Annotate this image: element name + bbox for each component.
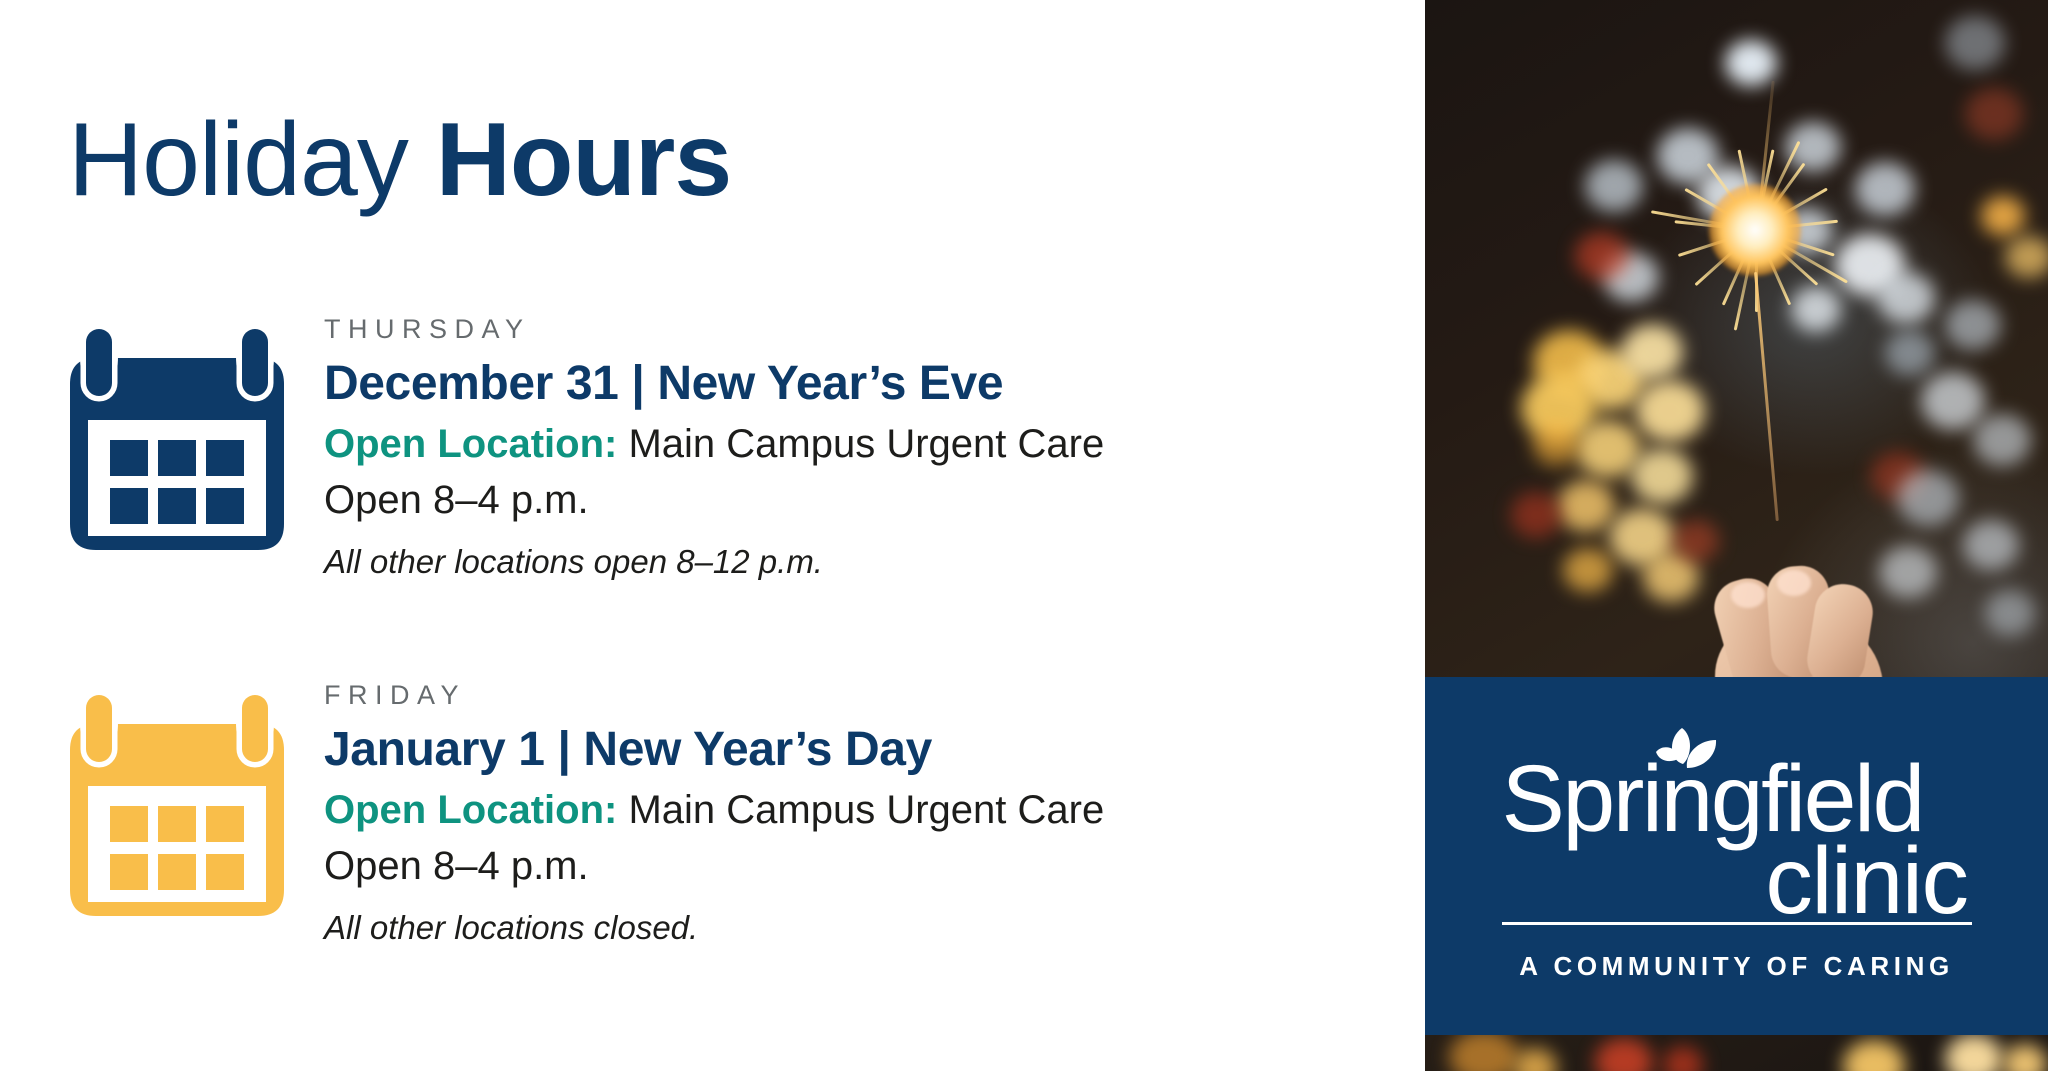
fingernail [1731, 582, 1765, 608]
page-title-light: Holiday [68, 102, 408, 218]
calendar-icon-gold-wrap [56, 672, 324, 934]
event-hours: Open 8–4 p.m. [324, 840, 1104, 893]
event-text-group: THURSDAY December 31 | New Year’s Eve Op… [324, 306, 1104, 581]
sparkler-stick [1754, 272, 1779, 521]
logo-mark: Springfield clinic [1502, 730, 1972, 920]
page-title-bold: Hours [436, 102, 731, 218]
open-location-key: Open Location: [324, 788, 617, 832]
event-open-location: Open Location: Main Campus Urgent Care [324, 418, 1104, 471]
event-block-new-years-day: FRIDAY January 1 | New Year’s Day Open L… [56, 672, 1104, 947]
photo-panel: Springfield clinic A COMMUNITY OF CARING [1425, 0, 2048, 1071]
event-day-label: FRIDAY [324, 680, 1104, 711]
open-location-key: Open Location: [324, 422, 617, 466]
event-title: January 1 | New Year’s Day [324, 724, 1104, 776]
event-note: All other locations closed. [324, 909, 1104, 947]
logo-inner: Springfield clinic A COMMUNITY OF CARING [1502, 730, 1972, 982]
calendar-icon [56, 682, 322, 934]
content-panel: Holiday Hours [0, 0, 1425, 1071]
logo-word-clinic: clinic [1765, 834, 1967, 929]
event-title: December 31 | New Year’s Eve [324, 358, 1104, 410]
logo-tagline: A COMMUNITY OF CARING [1502, 951, 1972, 982]
page-title: Holiday Hours [68, 108, 731, 212]
brand-logo-block: Springfield clinic A COMMUNITY OF CARING [1425, 677, 2048, 1035]
event-note: All other locations open 8–12 p.m. [324, 543, 1104, 581]
event-text-group: FRIDAY January 1 | New Year’s Day Open L… [324, 672, 1104, 947]
sparkler-burst-icon [1755, 230, 1759, 234]
event-open-location: Open Location: Main Campus Urgent Care [324, 784, 1104, 837]
calendar-icon-navy-wrap [56, 306, 324, 568]
open-location-value: Main Campus Urgent Care [628, 422, 1104, 466]
event-day-label: THURSDAY [324, 314, 1104, 345]
calendar-icon [56, 316, 322, 568]
event-hours: Open 8–4 p.m. [324, 474, 1104, 527]
holiday-hours-poster: Holiday Hours [0, 0, 2048, 1071]
open-location-value: Main Campus Urgent Care [628, 788, 1104, 832]
sparkler-core [1709, 184, 1801, 276]
fingernail [1777, 570, 1811, 596]
event-block-new-years-eve: THURSDAY December 31 | New Year’s Eve Op… [56, 306, 1104, 581]
